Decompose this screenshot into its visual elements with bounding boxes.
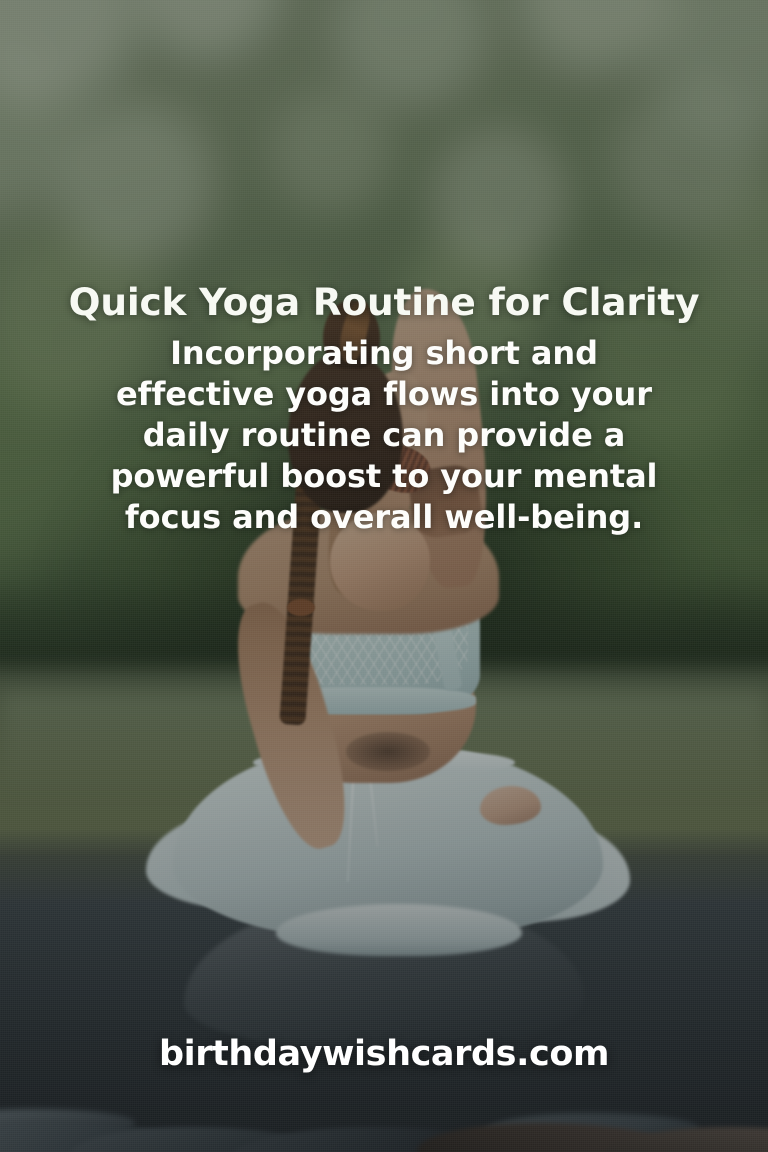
body-line-2: effective yoga flows into your <box>84 374 684 415</box>
site-url-link[interactable]: birthdaywishcards.com <box>0 1034 768 1074</box>
body-line-5: focus and overall well-being. <box>84 497 684 538</box>
pinterest-pin-card: Quick Yoga Routine for Clarity Incorpora… <box>0 0 768 1152</box>
body-line-4: powerful boost to your mental <box>84 456 684 497</box>
body-line-1: Incorporating short and <box>84 333 684 374</box>
body-paragraph: Incorporating short and effective yoga f… <box>84 333 684 538</box>
page-title: Quick Yoga Routine for Clarity <box>0 283 768 323</box>
text-overlay: Quick Yoga Routine for Clarity Incorpora… <box>0 0 768 1152</box>
body-line-3: daily routine can provide a <box>84 415 684 456</box>
